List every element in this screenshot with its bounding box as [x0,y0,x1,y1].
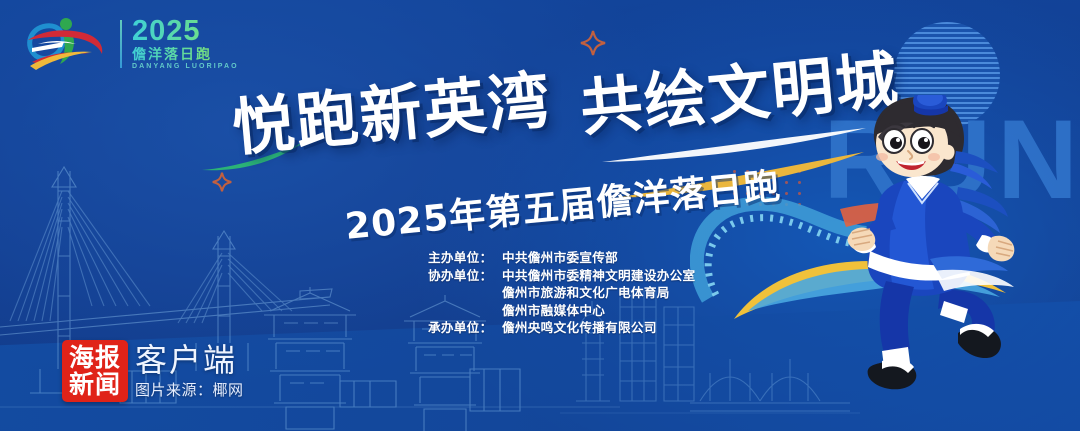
event-subtitle: 2025年第五届儋洋落日跑 [343,157,783,250]
organizer-credits: 主办单位： 中共儋州市委宣传部 协办单位： 中共儋州市委精神文明建设办公室 儋州… [428,249,695,337]
badge-line-2: 新闻 [69,371,121,398]
credit-value: 中共儋州市委宣传部 [502,249,618,267]
watermark-app-label: 客户端 [135,344,244,377]
credit-label: 承办单位： [428,319,502,337]
credit-value: 中共儋州市委精神文明建设办公室 [502,267,695,285]
credit-label: 协办单位： [428,267,502,320]
credit-value: 儋州市旅游和文化广电体育局 [502,284,695,302]
credit-row: 承办单位： 儋州央鸣文化传播有限公司 [428,319,695,337]
credit-value: 儋州央鸣文化传播有限公司 [502,319,657,337]
title-line-a: 悦跑新英湾 [228,49,555,168]
credit-row: 主办单位： 中共儋州市委宣传部 [428,249,695,267]
credit-label: 主办单位： [428,249,502,267]
promotional-banner: RUN 202 [0,0,1080,431]
credit-value: 儋州市融媒体中心 [502,302,695,320]
watermark: 海报 新闻 客户端 图片来源：椰网 [62,340,244,402]
watermark-source-label: 图片来源：椰网 [135,379,244,400]
running-scholar-character-icon [808,95,1058,425]
news-logo-badge: 海报 新闻 [62,340,128,402]
credit-row: 协办单位： 中共儋州市委精神文明建设办公室 儋州市旅游和文化广电体育局 儋州市融… [428,267,695,320]
badge-line-1: 海报 [69,344,121,371]
